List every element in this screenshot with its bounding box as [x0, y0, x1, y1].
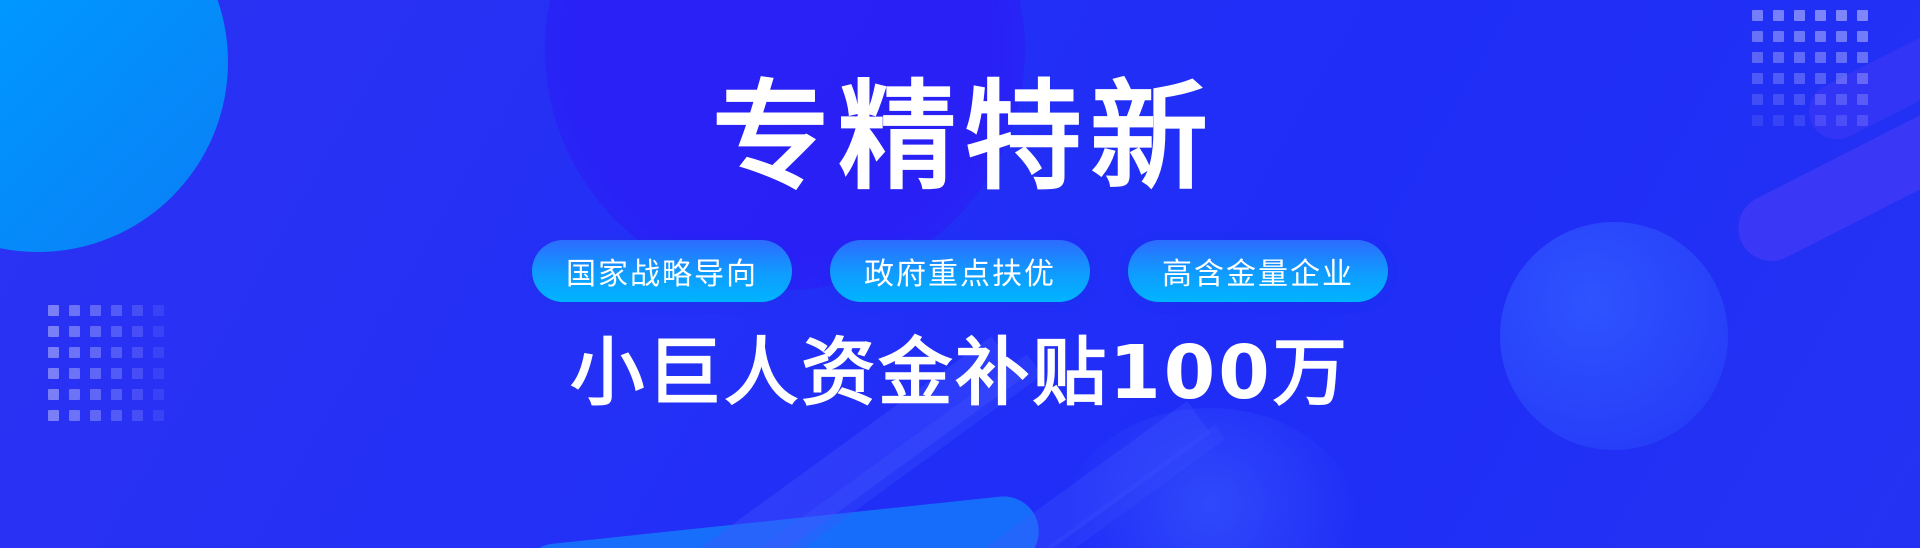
banner-main-headline: 专精特新 — [704, 78, 1216, 196]
tag-pill-national-strategy[interactable]: 国家战略导向 — [532, 240, 792, 302]
banner-tag-row: 国家战略导向 政府重点扶优 高含金量企业 — [532, 240, 1388, 302]
tag-pill-government-support[interactable]: 政府重点扶优 — [830, 240, 1090, 302]
tag-pill-high-value-enterprise[interactable]: 高含金量企业 — [1128, 240, 1388, 302]
promo-banner: 专精特新 国家战略导向 政府重点扶优 高含金量企业 小巨人资金补贴100万 — [0, 0, 1920, 548]
banner-content: 专精特新 国家战略导向 政府重点扶优 高含金量企业 小巨人资金补贴100万 — [0, 0, 1920, 548]
banner-sub-headline: 小巨人资金补贴100万 — [570, 336, 1349, 410]
